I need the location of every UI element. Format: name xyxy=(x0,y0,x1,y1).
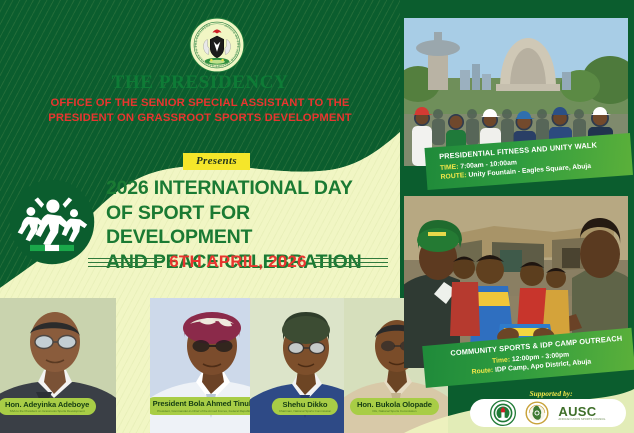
running-athletes-icon xyxy=(8,178,96,266)
nigeria-coat-of-arms-seal-icon: OFFICE OF THE SENIOR SPECIAL ASSISTANT T… xyxy=(189,17,245,73)
dignitary-role: Chairman, National Sports Commission xyxy=(279,409,331,413)
office-line-1: OFFICE OF THE SENIOR SPECIAL ASSISTANT T… xyxy=(40,96,360,110)
supported-by-label: Supported by: xyxy=(476,389,626,398)
dignitary-name: Shehu Dikko xyxy=(279,400,331,409)
date-rule-right xyxy=(314,258,388,267)
event-date-row: 6TH APRIL, 2026 xyxy=(88,252,388,272)
namecard-adeboye: Hon. Adeyinka Adeboye SSA to the Preside… xyxy=(0,398,96,415)
ausc-logo-icon xyxy=(525,401,549,425)
portrait-card-adeboye: Hon. Adeyinka Adeboye SSA to the Preside… xyxy=(0,298,116,433)
event-title-line-2: OF SPORT FOR DEVELOPMENT xyxy=(106,201,398,250)
ausc-name: AUSC xyxy=(558,405,605,418)
namecard-dikko: Shehu Dikko Chairman, National Sports Co… xyxy=(272,398,338,415)
poster-root: OFFICE OF THE SENIOR SPECIAL ASSISTANT T… xyxy=(0,0,634,433)
event-title-line-1: 2026 INTERNATIONAL DAY xyxy=(106,176,398,201)
national-sports-commission-logo-icon xyxy=(490,400,516,426)
presents-badge: Presents xyxy=(183,153,250,170)
ausc-wordmark: AUSC AFRICAN UNION SPORTS COUNCIL xyxy=(558,405,605,422)
presidency-heading: THE PRESIDENCY xyxy=(0,72,400,94)
sponsor-logos-pill: AUSC AFRICAN UNION SPORTS COUNCIL xyxy=(470,399,626,427)
dignitary-name: Hon. Adeyinka Adeboye xyxy=(5,400,89,409)
office-line-2: PRESIDENT ON GRASSROOT SPORTS DEVELOPMEN… xyxy=(40,111,360,125)
dignitary-role: SSA to the President on Grassroots Sport… xyxy=(5,409,89,413)
event-date: 6TH APRIL, 2026 xyxy=(169,252,306,272)
date-rule-left xyxy=(88,258,162,267)
dignitary-portraits: Hon. Adeyinka Adeboye SSA to the Preside… xyxy=(0,298,460,433)
ausc-subtitle: AFRICAN UNION SPORTS COUNCIL xyxy=(558,419,605,422)
